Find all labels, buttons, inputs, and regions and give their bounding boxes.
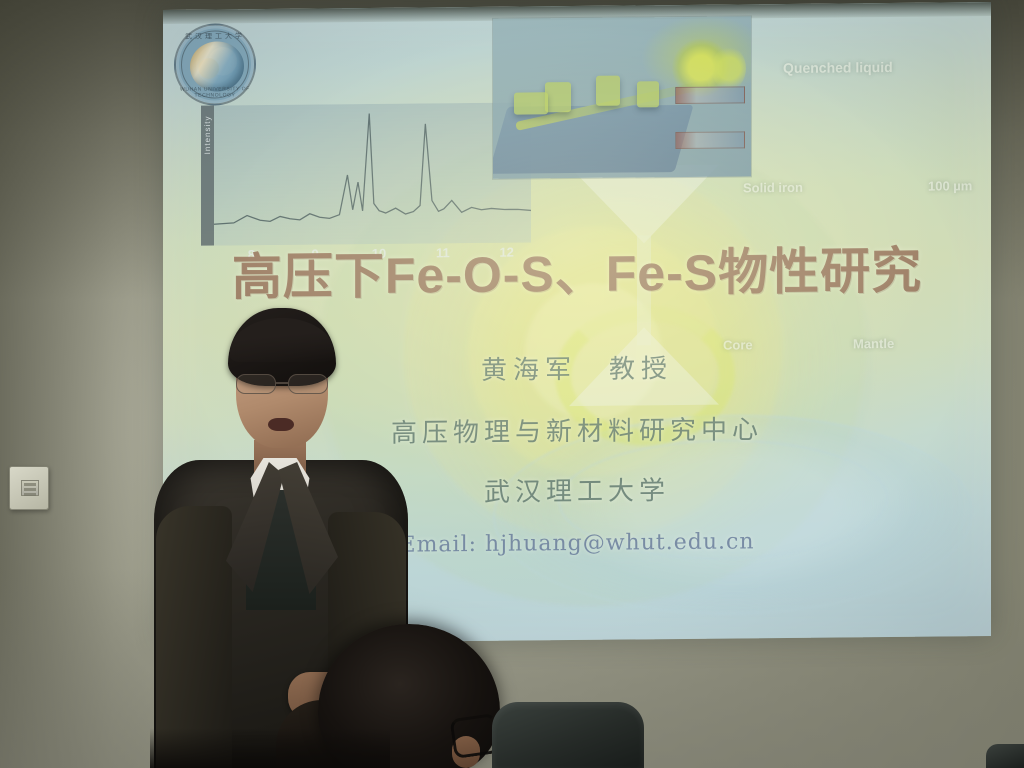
glasses-lens-right <box>288 374 328 394</box>
conference-room-photo: 武汉理工大学 WUHAN UNIVERSITY OF TECHNOLOGY In… <box>0 0 1024 768</box>
seal-globe <box>190 41 244 92</box>
glasses-bridge <box>276 382 288 384</box>
slide-title: 高压下Fe-O-S、Fe-S物性研究 <box>163 230 991 310</box>
apparatus-base <box>493 105 694 174</box>
xrd-chart: Intensity 8 9 10 11 12 <box>201 102 531 245</box>
apparatus-inset-2 <box>675 132 745 150</box>
label-solid-iron: Solid iron <box>743 180 803 196</box>
presenter-mouth <box>268 418 294 431</box>
synchrotron-beamline-diagram <box>493 16 751 178</box>
office-chair-back <box>492 702 644 768</box>
apparatus-module-3 <box>637 81 659 107</box>
label-scale-bar: 100 µm <box>928 178 972 193</box>
seal-top-text: 武汉理工大学 <box>176 31 254 42</box>
apparatus-module-2 <box>596 75 620 105</box>
wall-light-switch[interactable] <box>9 466 49 510</box>
label-quenched-liquid: Quenched liquid <box>783 59 893 76</box>
foreground-shadow <box>150 728 390 768</box>
apparatus-detector-ring-2 <box>712 47 746 91</box>
office-chair-back-right <box>986 744 1024 768</box>
glasses-lens-left <box>236 374 276 394</box>
apparatus-module-1 <box>545 82 571 112</box>
university-seal: 武汉理工大学 WUHAN UNIVERSITY OF TECHNOLOGY <box>174 23 256 106</box>
xrd-y-axis-label: Intensity <box>203 116 212 155</box>
seal-bottom-text: WUHAN UNIVERSITY OF TECHNOLOGY <box>176 86 254 99</box>
switch-rocker[interactable] <box>21 480 39 496</box>
apparatus-module-4 <box>514 92 548 114</box>
xrd-trace <box>214 102 531 245</box>
apparatus-inset-1 <box>675 87 745 105</box>
presenter-glasses <box>236 374 332 396</box>
